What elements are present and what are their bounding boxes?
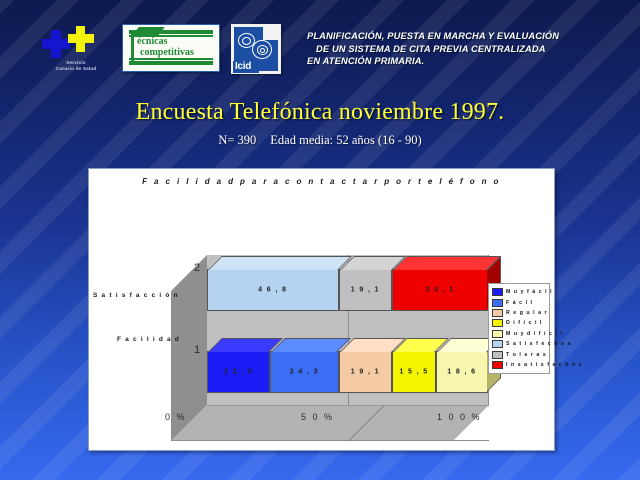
bar-segment: 1 9 , 1 <box>339 351 393 393</box>
bar-row: 2 2 , 52 4 , 31 9 , 11 5 , 51 8 , 6 <box>207 351 488 393</box>
legend-label: T o l e r a s <box>506 352 547 358</box>
subtitle-sample-size: N= 390 <box>218 133 256 147</box>
legend-item: R e g u l a r <box>492 308 547 318</box>
legend-swatch <box>492 340 503 348</box>
header-title-line-1: PLANIFICACIÓN, PUESTA EN MARCHA Y EVALUA… <box>307 31 559 41</box>
icid-logo: Icid <box>231 24 281 74</box>
chart-title: F a c i l i d a d p a r a c o n t a c t … <box>89 177 554 186</box>
ytick-label-2: 2 <box>194 262 200 274</box>
legend-label: R e g u l a r <box>506 310 548 316</box>
legend-label: I n s a t i s f e c h o s <box>506 362 583 368</box>
slide-header: Servicio Canario de Salud écnicas compet… <box>0 0 640 86</box>
bar-value-label: 1 8 , 6 <box>437 369 487 376</box>
legend-swatch <box>492 309 503 317</box>
bar-segment-top-face <box>393 256 501 270</box>
logo-word-tecnicas: écnicas <box>137 36 168 47</box>
bar-value-label: 1 5 , 5 <box>393 369 435 376</box>
logo-bar-bottom <box>129 61 213 65</box>
bar-segment: 4 6 , 8 <box>207 269 339 311</box>
category-label-facilidad: F a c i l i d a d <box>117 336 180 343</box>
logo-word-competitivas: competitivas <box>140 47 194 58</box>
plot-floor-front-edge <box>171 440 489 441</box>
bar-value-label: 1 9 , 1 <box>340 369 392 376</box>
bar-segment: 3 4 , 1 <box>392 269 488 311</box>
legend-label: M u y f á c i l <box>506 289 553 295</box>
legend-item: F á c i l <box>492 297 547 307</box>
bar-value-label: 4 6 , 8 <box>208 287 338 294</box>
bar-segment-top-face <box>208 256 352 270</box>
bar-segment: 1 8 , 6 <box>436 351 488 393</box>
legend-item: I n s a t i s f e c h o s <box>492 360 547 370</box>
bar-value-label: 1 9 , 1 <box>340 287 392 294</box>
chart-legend: M u y f á c i lF á c i lR e g u l a rD i… <box>488 283 550 374</box>
subtitle-age: Edad media: 52 años (16 - 90) <box>270 133 421 147</box>
legend-label: F á c i l <box>506 300 533 306</box>
legend-item: M u y f á c i l <box>492 287 547 297</box>
bar-segment: 2 2 , 5 <box>207 351 270 393</box>
legend-label: S a t i s f e c h o s <box>506 341 572 347</box>
slide-canvas: Servicio Canario de Salud écnicas compet… <box>0 0 640 480</box>
plot-floor <box>171 405 489 441</box>
legend-item: T o l e r a s <box>492 349 547 359</box>
legend-swatch <box>492 351 503 359</box>
header-title: PLANIFICACIÓN, PUESTA EN MARCHA Y EVALUA… <box>307 30 627 68</box>
bar-row: 4 6 , 81 9 , 13 4 , 1 <box>207 269 488 311</box>
legend-swatch <box>492 288 503 296</box>
tecnicas-competitivas-logo: écnicas competitivas <box>122 24 220 72</box>
category-label-satisfaccion: S a t i s f a c c i ó n <box>93 292 179 299</box>
legend-label: D i f í c i l <box>506 320 542 326</box>
page-subtitle: N= 390Edad media: 52 años (16 - 90) <box>0 133 640 148</box>
xtick-label-50: 5 0 % <box>301 412 334 422</box>
xtick-label-100: 1 0 0 % <box>437 412 482 422</box>
logo-bar-bottom-thin <box>129 58 213 60</box>
icid-notch <box>263 27 278 40</box>
yellow-cross-icon <box>68 26 94 52</box>
legend-swatch <box>492 299 503 307</box>
header-title-line-3: EN ATENCIÓN PRIMARIA. <box>307 56 424 66</box>
spiral-icon-large-inner <box>242 37 251 45</box>
legend-item: D i f í c i l <box>492 318 547 328</box>
bar-segment: 1 5 , 5 <box>392 351 436 393</box>
plot-floor-back-edge <box>207 405 489 406</box>
legend-swatch <box>492 361 503 369</box>
icid-wordmark: Icid <box>235 61 251 72</box>
blue-cross-icon <box>42 30 70 58</box>
bar-value-label: 3 4 , 1 <box>393 287 487 294</box>
bar-value-label: 2 4 , 3 <box>271 369 337 376</box>
bar-segment: 2 4 , 3 <box>270 351 338 393</box>
bar-value-label: 2 2 , 5 <box>208 369 269 376</box>
legend-swatch <box>492 319 503 327</box>
legend-item: M u y d i f í c i l <box>492 329 547 339</box>
legend-swatch <box>492 330 503 338</box>
legend-label: M u y d i f í c i l <box>506 331 563 337</box>
bar-segment: 1 9 , 1 <box>339 269 393 311</box>
page-title: Encuesta Telefónica noviembre 1997. <box>0 99 640 126</box>
header-title-line-2: DE UN SISTEMA DE CITA PREVIA CENTRALIZAD… <box>307 43 627 56</box>
spiral-icon-core <box>260 48 265 53</box>
ytick-label-1: 1 <box>194 344 200 356</box>
xtick-label-0: 0 % <box>165 412 187 422</box>
legend-item: S a t i s f e c h o s <box>492 339 547 349</box>
scs-caption: Servicio Canario de Salud <box>40 60 112 71</box>
chart-panel: F a c i l i d a d p a r a c o n t a c t … <box>88 168 555 451</box>
